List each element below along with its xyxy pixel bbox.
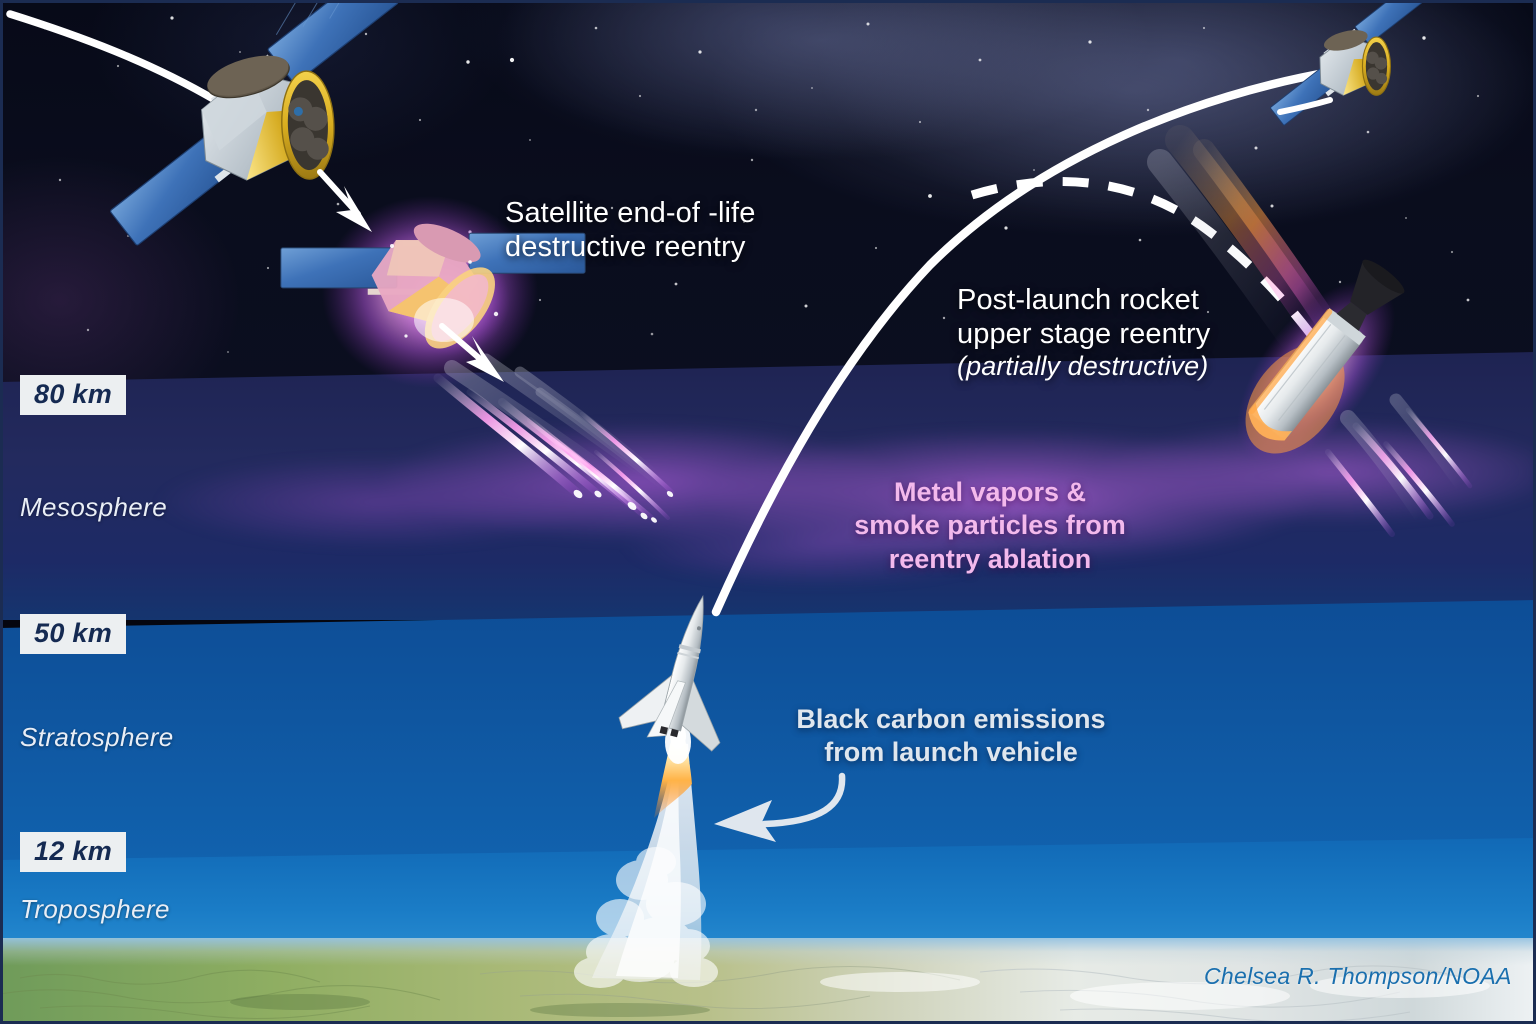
annotation-metal-vapors-line2: smoke particles from — [854, 510, 1126, 540]
image-credit: Chelsea R. Thompson/NOAA — [1204, 963, 1512, 990]
annotation-metal-vapors-line1: Metal vapors & — [894, 477, 1086, 507]
annotation-black-carbon-line2: from launch vehicle — [824, 737, 1078, 767]
annotation-satellite-reentry-line1: Satellite end-of -life — [505, 197, 755, 229]
stratosphere-band — [0, 600, 1536, 862]
annotation-black-carbon: Black carbon emissions from launch vehic… — [786, 703, 1116, 769]
annotation-rocket-reentry: Post-launch rocket upper stage reentry (… — [957, 283, 1210, 383]
annotation-metal-vapors-line3: reentry ablation — [889, 544, 1092, 574]
infographic-canvas: 80 km 50 km 12 km Mesosphere Stratospher… — [0, 0, 1536, 1024]
layer-label-mesosphere: Mesosphere — [20, 492, 167, 523]
altitude-badge-12km: 12 km — [20, 832, 126, 872]
mesosphere-aerosol-haze — [0, 352, 1536, 620]
annotation-rocket-reentry-line1: Post-launch rocket — [957, 284, 1199, 316]
annotation-rocket-reentry-line2: upper stage reentry — [957, 318, 1210, 350]
layer-label-troposphere: Troposphere — [20, 894, 170, 925]
annotation-satellite-reentry: Satellite end-of -life destructive reent… — [505, 196, 755, 264]
layer-label-stratosphere: Stratosphere — [20, 722, 174, 753]
altitude-badge-80km: 80 km — [20, 375, 126, 415]
annotation-rocket-reentry-line3: (partially destructive) — [957, 351, 1210, 383]
altitude-badge-50km: 50 km — [20, 614, 126, 654]
annotation-satellite-reentry-line2: destructive reentry — [505, 231, 745, 263]
annotation-black-carbon-line1: Black carbon emissions — [796, 704, 1105, 734]
annotation-metal-vapors: Metal vapors & smoke particles from reen… — [830, 476, 1150, 576]
